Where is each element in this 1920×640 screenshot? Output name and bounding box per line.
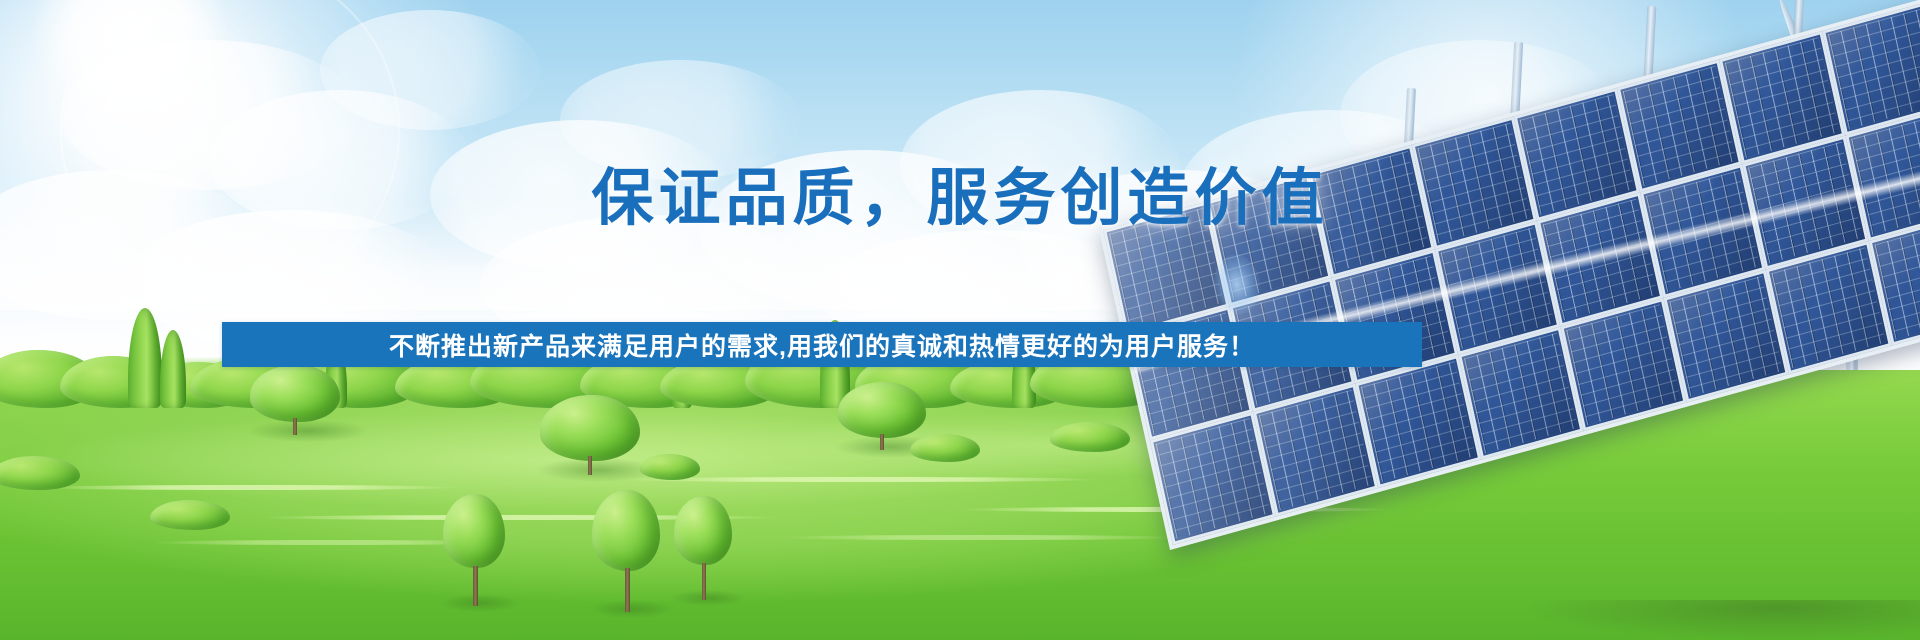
- subtitle-text: 不断推出新产品来满足用户的需求,用我们的真诚和热情更好的为用户服务！: [389, 327, 1255, 363]
- page-title: 保证品质，服务创造价值: [0, 168, 1920, 230]
- sapling-1: [443, 494, 505, 606]
- solar-panel-array: [1170, 220, 1920, 640]
- subtitle-bar: 不断推出新产品来满足用户的需求,用我们的真诚和热情更好的为用户服务！: [222, 322, 1422, 367]
- sapling-2: [592, 490, 660, 612]
- midground-tree-1: [250, 365, 340, 435]
- midground-tree-3: [838, 382, 926, 450]
- sapling-3: [674, 496, 732, 600]
- hero-banner: 保证品质，服务创造价值 不断推出新产品来满足用户的需求,用我们的真诚和热情更好的…: [0, 0, 1920, 640]
- midground-tree-2: [540, 395, 640, 475]
